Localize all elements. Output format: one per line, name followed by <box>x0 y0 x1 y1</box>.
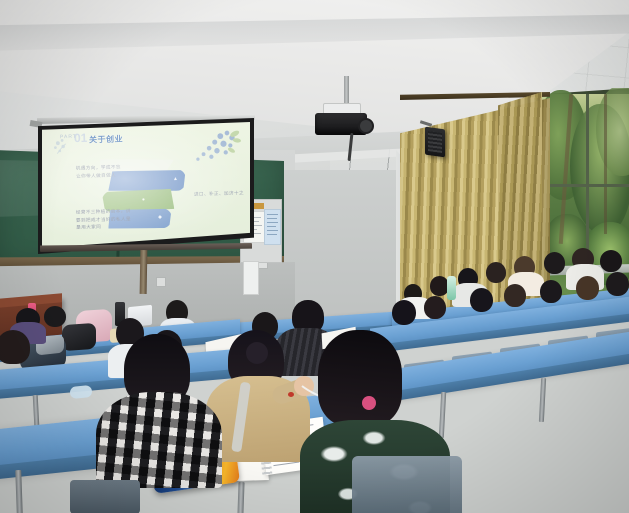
student-head <box>576 276 599 300</box>
student-checkered-shirt <box>96 392 222 488</box>
desk-leg <box>439 392 446 438</box>
screen-support-post <box>140 250 148 294</box>
wall-speaker <box>425 127 445 158</box>
student-head <box>544 252 565 274</box>
student-head <box>504 284 526 307</box>
student-head <box>540 280 562 303</box>
face-mask <box>69 385 92 399</box>
student-head <box>318 330 402 426</box>
wall-switch-icon <box>156 277 166 287</box>
desk-leg <box>237 482 244 513</box>
slide-part-number: 01 <box>74 131 88 145</box>
student-head <box>0 330 30 364</box>
water-bottle <box>447 276 456 300</box>
student-head <box>600 250 622 272</box>
slide: PART 01 关于创业 ▲ ● ◆ 机遇方向，学成不忘 让你带人做自做人 经营… <box>42 122 250 248</box>
speaker-grill-icon <box>428 131 442 153</box>
notice-sheet-blue <box>264 209 281 245</box>
notice-board-lower <box>243 261 259 295</box>
projector-pole <box>344 76 349 106</box>
student-head <box>424 296 446 319</box>
projection-screen: PART 01 关于创业 ▲ ● ◆ 机遇方向，学成不忘 让你带人做自做人 经营… <box>42 122 250 248</box>
slide-text-left-top: 机遇方向，学成不忘 让你带人做自做人 <box>76 163 121 179</box>
student-head <box>470 288 493 312</box>
hair-bun <box>246 342 268 364</box>
desk-leg <box>539 378 546 422</box>
window-transom <box>540 184 629 187</box>
red-bracelet <box>288 392 294 397</box>
classroom-photo: PART 01 关于创业 ▲ ● ◆ 机遇方向，学成不忘 让你带人做自做人 经营… <box>0 0 629 513</box>
black-backpack <box>62 323 96 351</box>
student-head <box>606 272 629 296</box>
projector-lens-icon <box>358 118 374 134</box>
seat-back <box>70 480 140 513</box>
seat-back <box>352 456 462 513</box>
flower-cluster-icon <box>183 127 242 169</box>
slide-title: 关于创业 <box>89 134 123 146</box>
student-head <box>392 300 416 325</box>
hair-tie <box>362 396 376 410</box>
slide-text-left-bottom: 经营不三种植的资本，讲 要到把成才当好的私人是 是用大家同 <box>76 207 132 231</box>
student-head <box>44 306 66 327</box>
slide-text-right: 进口、补正、加济十之 <box>194 189 244 198</box>
student-head <box>486 262 506 283</box>
